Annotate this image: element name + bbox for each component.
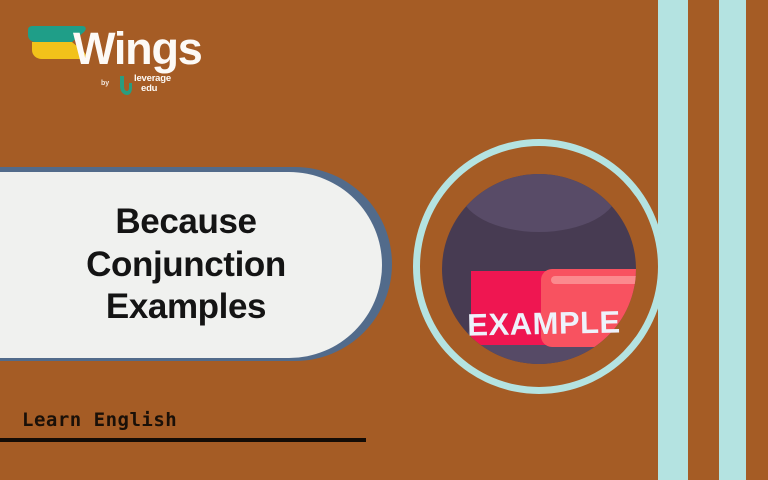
logo-wordmark: Wings	[73, 24, 202, 74]
page-title-line2: Conjunction	[21, 244, 351, 286]
tagline-by-label: by	[101, 80, 109, 87]
banner-label: EXAMPLE	[451, 302, 638, 346]
page-title-line1: Because	[21, 201, 351, 243]
logo-tagline: by leverage edu	[101, 72, 201, 98]
disc-gloss-top	[460, 174, 618, 232]
banner-highlight-top	[551, 276, 636, 284]
example-emblem: EXAMPLE	[411, 137, 669, 397]
thumbnail-canvas: Wings by leverage edu Because Conjunctio…	[0, 0, 768, 480]
page-title-line3: Examples	[21, 286, 351, 328]
tagline-brand-line2: edu	[134, 84, 171, 94]
page-title: Because Conjunction Examples	[21, 201, 351, 328]
tagline-brand-label: leverage edu	[134, 74, 171, 94]
caption-underline	[0, 438, 366, 442]
brand-logo: Wings by leverage edu	[26, 24, 196, 104]
decorative-stripe-right	[719, 0, 746, 480]
title-card: Because Conjunction Examples	[0, 172, 382, 358]
category-caption: Learn English	[22, 409, 177, 431]
